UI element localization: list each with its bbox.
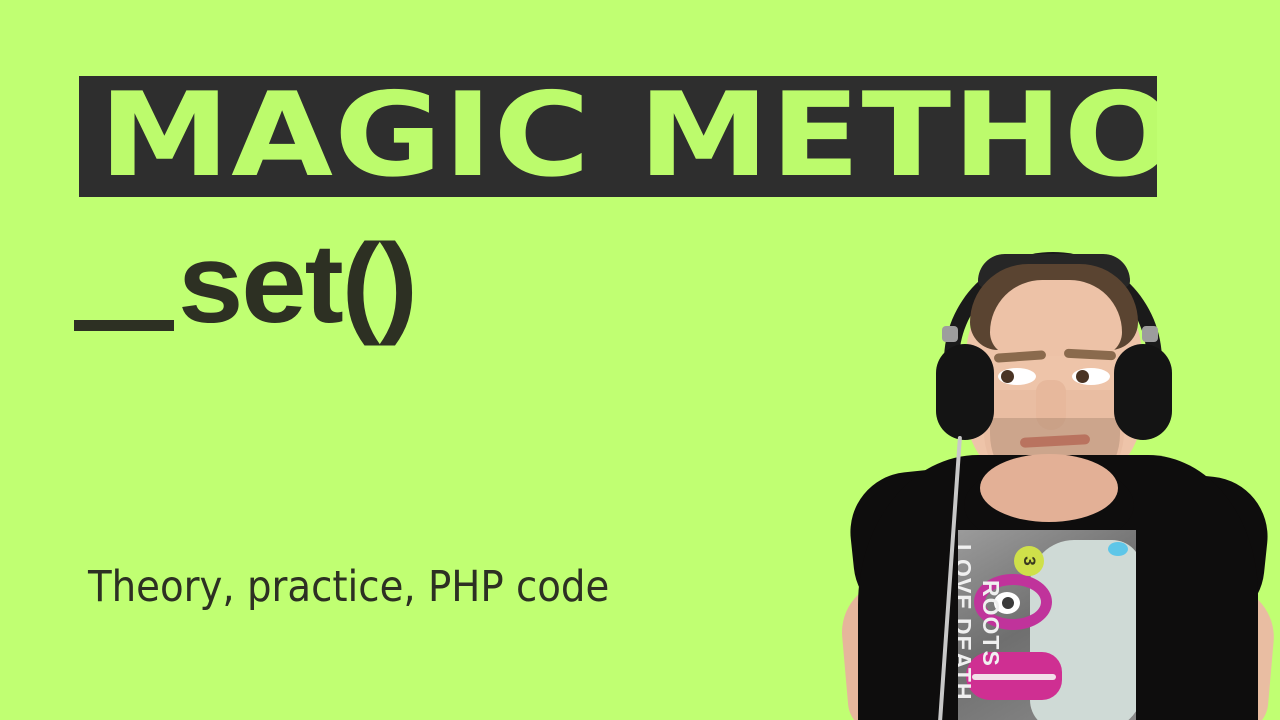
method-name-text: set() — [178, 228, 416, 340]
right-pupil — [1076, 370, 1089, 383]
right-headphone-slider — [1142, 326, 1158, 342]
double-underscore-glyph — [74, 320, 174, 331]
tee-blue-dot — [1108, 542, 1128, 556]
left-headphone-slider — [942, 326, 958, 342]
tee-text-line-2: ROOTS — [977, 580, 1004, 667]
title-banner: MAGIC METHODS — [79, 76, 1157, 197]
left-eye — [998, 368, 1036, 385]
forehead-shape — [990, 280, 1122, 356]
collar-opening — [980, 454, 1118, 522]
tee-lips-line — [972, 674, 1056, 680]
right-eye — [1072, 368, 1110, 385]
page-title: MAGIC METHODS — [99, 83, 1157, 190]
left-pupil — [1001, 370, 1014, 383]
right-earcup-icon — [1114, 344, 1172, 440]
tagline-text: Theory, practice, PHP code — [88, 562, 609, 612]
tee-text-line-1: LOVE DEATH — [958, 544, 976, 701]
video-thumbnail-slide: MAGIC METHODS set() Theory, practice, PH… — [0, 0, 1280, 720]
tee-badge-number: 3 — [1014, 546, 1044, 576]
t-shirt-graphic: 3 LOVE DEATH ROOTS — [958, 530, 1136, 720]
left-earcup-icon — [936, 344, 994, 440]
method-name-heading: set() — [74, 228, 404, 340]
presenter-photo: 3 LOVE DEATH ROOTS — [838, 240, 1280, 720]
